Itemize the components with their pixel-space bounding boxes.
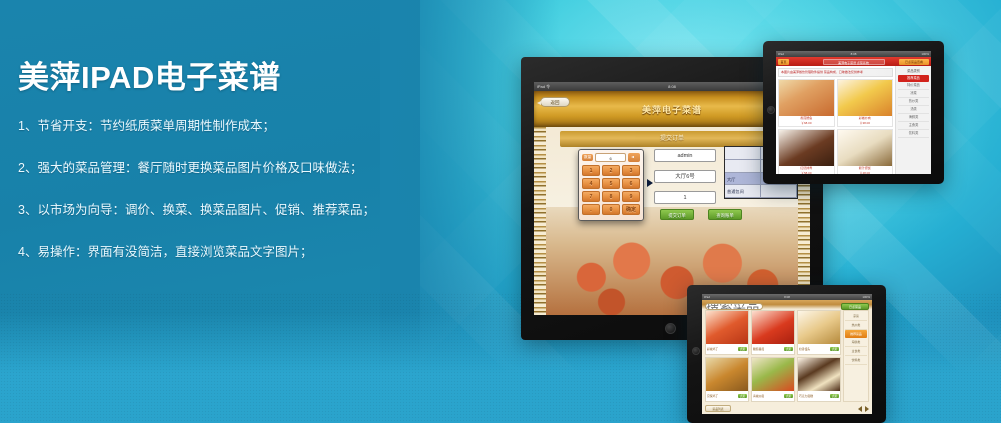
dish-image bbox=[838, 130, 893, 166]
category-sidebar: 凉菜 热炒类 推荐菜品 海鲜类 主食类 饮料类 bbox=[843, 310, 869, 402]
tablet-top-right-device: iPad 8:08 100% 首页 美萍电子菜谱 点菜系统 已点菜品查看 本图片… bbox=[763, 41, 944, 184]
dish-name: 彩椒鸡丁 bbox=[707, 347, 718, 351]
sidebar-item-cold[interactable]: 凉菜 bbox=[845, 312, 867, 321]
keypad-label: 数量 bbox=[582, 154, 593, 161]
numeric-keypad[interactable]: 数量 6 1 2 3 4 5 6 7 8 9 . bbox=[578, 149, 644, 221]
sidebar-item-stirfry[interactable]: 热炒类 bbox=[898, 98, 929, 106]
action-buttons: 提交订单 查询账单 bbox=[660, 209, 742, 220]
add-dish-button[interactable]: 点菜 bbox=[738, 347, 747, 351]
keypad-key[interactable]: 确定 bbox=[622, 204, 640, 215]
cart-button[interactable]: 已点菜品 bbox=[841, 303, 869, 310]
sidebar-item-recommended[interactable]: 推荐菜品 bbox=[898, 75, 929, 82]
keypad-key[interactable]: 2 bbox=[602, 165, 620, 176]
category-sidebar: 菜品类别 推荐菜品 特价菜品 凉菜 热炒类 汤类 海鲜类 主食类 饮料类 bbox=[895, 66, 931, 174]
table-cell[interactable] bbox=[761, 185, 797, 198]
menu-list-tab[interactable]: 菜品列表 bbox=[705, 405, 731, 412]
dish-name: 青椒炒蛋 bbox=[753, 394, 764, 398]
dish-card[interactable]: 青椒炒蛋 点菜 bbox=[751, 357, 795, 402]
query-bill-button[interactable]: 查询账单 bbox=[708, 209, 742, 220]
sidebar-item-drinks[interactable]: 饮料类 bbox=[845, 356, 867, 365]
dish-card-footer: 糖醋番茄 点菜 bbox=[752, 344, 794, 354]
dish-card-footer: 巧克力蛋糕 点菜 bbox=[798, 391, 840, 401]
list-item: 1、节省开支：节约纸质菜单周期性制作成本； bbox=[18, 118, 438, 134]
keypad-key[interactable]: 6 bbox=[622, 178, 640, 189]
sidebar-item-soup[interactable]: 汤类 bbox=[898, 106, 929, 114]
pagination-controls bbox=[858, 406, 869, 412]
info-banner: 本图片由美萍餐饮管理软件提供 菜品构成、口味做法仅供参考 bbox=[778, 68, 893, 77]
dish-card[interactable]: 香煎鳕鱼 ￥68.00 bbox=[778, 79, 835, 127]
operator-field[interactable]: admin bbox=[654, 149, 716, 162]
keypad-key[interactable]: 0 bbox=[602, 204, 620, 215]
keypad-key[interactable]: 7 bbox=[582, 191, 600, 202]
dish-card-footer: 青椒炒蛋 点菜 bbox=[752, 391, 794, 401]
dish-card[interactable]: 宫保鸡丁 点菜 bbox=[705, 357, 749, 402]
dish-name: 宫保鸡丁 bbox=[707, 394, 718, 398]
prev-arrow-icon[interactable] bbox=[858, 406, 862, 412]
subtitle-bar: 提交订单 bbox=[560, 131, 784, 147]
dish-price: ￥38.00 bbox=[838, 121, 893, 126]
dish-card[interactable]: 糖醋番茄 点菜 bbox=[751, 310, 795, 355]
dish-image bbox=[706, 358, 748, 391]
dish-image bbox=[752, 311, 794, 344]
dish-card[interactable]: 红烧排骨 ￥58.00 bbox=[778, 129, 835, 174]
next-arrow-icon[interactable] bbox=[865, 406, 869, 412]
header-title: 美萍电子菜谱 点菜系统 bbox=[823, 59, 885, 65]
add-dish-button[interactable]: 点菜 bbox=[784, 347, 793, 351]
keypad-key[interactable]: 9 bbox=[622, 191, 640, 202]
dish-card[interactable]: 鲍汁捞饭 ￥48.00 bbox=[837, 129, 894, 174]
dish-card[interactable]: 彩椒炒肉 ￥38.00 bbox=[837, 79, 894, 127]
home-button[interactable] bbox=[692, 347, 700, 355]
dish-grid: 香煎鳕鱼 ￥68.00 彩椒炒肉 ￥38.00 红烧排骨 ￥58.00 bbox=[778, 79, 893, 174]
keypad-grid[interactable]: 1 2 3 4 5 6 7 8 9 . 0 确定 bbox=[582, 165, 640, 215]
login-fields: admin 大厅6号 1 bbox=[654, 149, 716, 212]
dish-name: 糖醋番茄 bbox=[753, 347, 764, 351]
dish-price: ￥68.00 bbox=[779, 121, 834, 126]
keypad-key[interactable]: 8 bbox=[602, 191, 620, 202]
dish-card[interactable]: 奶香馒头 点菜 bbox=[797, 310, 841, 355]
table-cell[interactable] bbox=[725, 147, 761, 160]
keypad-key[interactable]: 3 bbox=[622, 165, 640, 176]
menu-browser: 已点菜品 彩椒鸡丁 点菜 bbox=[702, 300, 872, 414]
sidebar-item-special[interactable]: 特价菜品 bbox=[898, 82, 929, 90]
view-ordered-button[interactable]: 已点菜品查看 bbox=[899, 59, 929, 65]
add-dish-button[interactable]: 点菜 bbox=[830, 347, 839, 351]
dish-name: 奶香馒头 bbox=[799, 347, 810, 351]
search-input[interactable] bbox=[705, 303, 763, 310]
marketing-copy: 美萍IPAD电子菜谱 1、节省开支：节约纸质菜单周期性制作成本； 2、强大的菜品… bbox=[18, 60, 438, 287]
dish-image bbox=[779, 130, 834, 166]
sidebar-item-drinks[interactable]: 饮料类 bbox=[898, 130, 929, 138]
dish-image bbox=[838, 80, 893, 116]
sidebar-item-staple[interactable]: 主食类 bbox=[845, 347, 867, 356]
keypad-display-row: 数量 6 bbox=[582, 153, 640, 162]
add-dish-button[interactable]: 点菜 bbox=[830, 394, 839, 398]
dish-card-footer: 宫保鸡丁 点菜 bbox=[706, 391, 748, 401]
home-nav-button[interactable]: 首页 bbox=[778, 59, 789, 65]
footer-bar: 菜品列表 bbox=[705, 404, 869, 413]
backspace-icon[interactable] bbox=[628, 153, 640, 162]
table-cell-selected[interactable]: 大厅 bbox=[725, 173, 761, 186]
toolbar: 已点菜品 bbox=[705, 300, 869, 310]
sidebar-item-recommended[interactable]: 推荐菜品 bbox=[845, 330, 867, 338]
dish-price: ￥58.00 bbox=[779, 171, 834, 174]
add-dish-button[interactable]: 点菜 bbox=[784, 394, 793, 398]
dish-card[interactable]: 彩椒鸡丁 点菜 bbox=[705, 310, 749, 355]
dish-image bbox=[752, 358, 794, 391]
pointer-arrow-icon bbox=[647, 179, 653, 187]
dish-price: ￥48.00 bbox=[838, 171, 893, 174]
app-header-bar: 首页 美萍电子菜谱 点菜系统 已点菜品查看 bbox=[776, 57, 931, 66]
table-field[interactable]: 大厅6号 bbox=[654, 170, 716, 183]
tablet-bottom-right-device: iPad 8:08 100% 已点菜品 彩椒鸡丁 bbox=[687, 285, 886, 423]
sidebar-item-cold[interactable]: 凉菜 bbox=[898, 90, 929, 98]
menu-content: 彩椒鸡丁 点菜 糖醋番茄 点菜 bbox=[705, 310, 869, 402]
status-clock: 8:08 bbox=[668, 82, 676, 91]
home-button[interactable] bbox=[665, 323, 676, 334]
dish-image bbox=[779, 80, 834, 116]
dish-card-footer: 彩椒鸡丁 点菜 bbox=[706, 344, 748, 354]
list-item: 4、易操作：界面有没简洁，直接浏览菜品文字图片； bbox=[18, 244, 438, 260]
keypad-display[interactable]: 6 bbox=[595, 153, 626, 162]
list-item: 3、以市场为向导：调价、换菜、换菜品图片、促销、推荐菜品； bbox=[18, 202, 438, 218]
dish-image bbox=[706, 311, 748, 344]
count-field[interactable]: 1 bbox=[654, 191, 716, 204]
keypad-key[interactable]: 5 bbox=[602, 178, 620, 189]
dish-card[interactable]: 巧克力蛋糕 点菜 bbox=[797, 357, 841, 402]
tablet-bottom-right-screen: iPad 8:08 100% 已点菜品 彩椒鸡丁 bbox=[702, 294, 872, 414]
dish-browser: 本图片由美萍餐饮管理软件提供 菜品构成、口味做法仅供参考 香煎鳕鱼 ￥68.00… bbox=[776, 66, 931, 174]
list-item: 2、强大的菜品管理：餐厅随时更换菜品图片价格及口味做法； bbox=[18, 160, 438, 176]
tablet-top-right-screen: iPad 8:08 100% 首页 美萍电子菜谱 点菜系统 已点菜品查看 本图片… bbox=[776, 51, 931, 174]
sidebar-item-staple[interactable]: 主食类 bbox=[898, 122, 929, 130]
sidebar-title: 菜品类别 bbox=[898, 68, 929, 73]
sidebar-item-seafood[interactable]: 海鲜类 bbox=[845, 338, 867, 347]
table-cell[interactable] bbox=[725, 160, 761, 173]
page-title: 美萍IPAD电子菜谱 bbox=[18, 60, 438, 96]
dish-gallery: 本图片由美萍餐饮管理软件提供 菜品构成、口味做法仅供参考 香煎鳕鱼 ￥68.00… bbox=[776, 66, 895, 174]
dish-image bbox=[798, 358, 840, 391]
sidebar-item-seafood[interactable]: 海鲜类 bbox=[898, 114, 929, 122]
home-button[interactable] bbox=[767, 106, 775, 114]
dish-image bbox=[798, 311, 840, 344]
keypad-key[interactable]: 1 bbox=[582, 165, 600, 176]
status-carrier: iPad 令 bbox=[537, 82, 550, 91]
dish-grid: 彩椒鸡丁 点菜 糖醋番茄 点菜 bbox=[705, 310, 841, 402]
add-dish-button[interactable]: 点菜 bbox=[738, 394, 747, 398]
table-cell[interactable]: 普通包间 bbox=[725, 185, 761, 198]
feature-list: 1、节省开支：节约纸质菜单周期性制作成本； 2、强大的菜品管理：餐厅随时更换菜品… bbox=[18, 118, 438, 261]
dish-card-footer: 奶香馒头 点菜 bbox=[798, 344, 840, 354]
dish-name: 巧克力蛋糕 bbox=[799, 394, 813, 398]
submit-order-button[interactable]: 提交订单 bbox=[660, 209, 694, 220]
keypad-key[interactable]: . bbox=[582, 204, 600, 215]
promo-banner: 美萍IPAD电子菜谱 1、节省开支：节约纸质菜单周期性制作成本； 2、强大的菜品… bbox=[0, 0, 1001, 423]
keypad-key[interactable]: 4 bbox=[582, 178, 600, 189]
sidebar-item-stirfry[interactable]: 热炒类 bbox=[845, 321, 867, 330]
